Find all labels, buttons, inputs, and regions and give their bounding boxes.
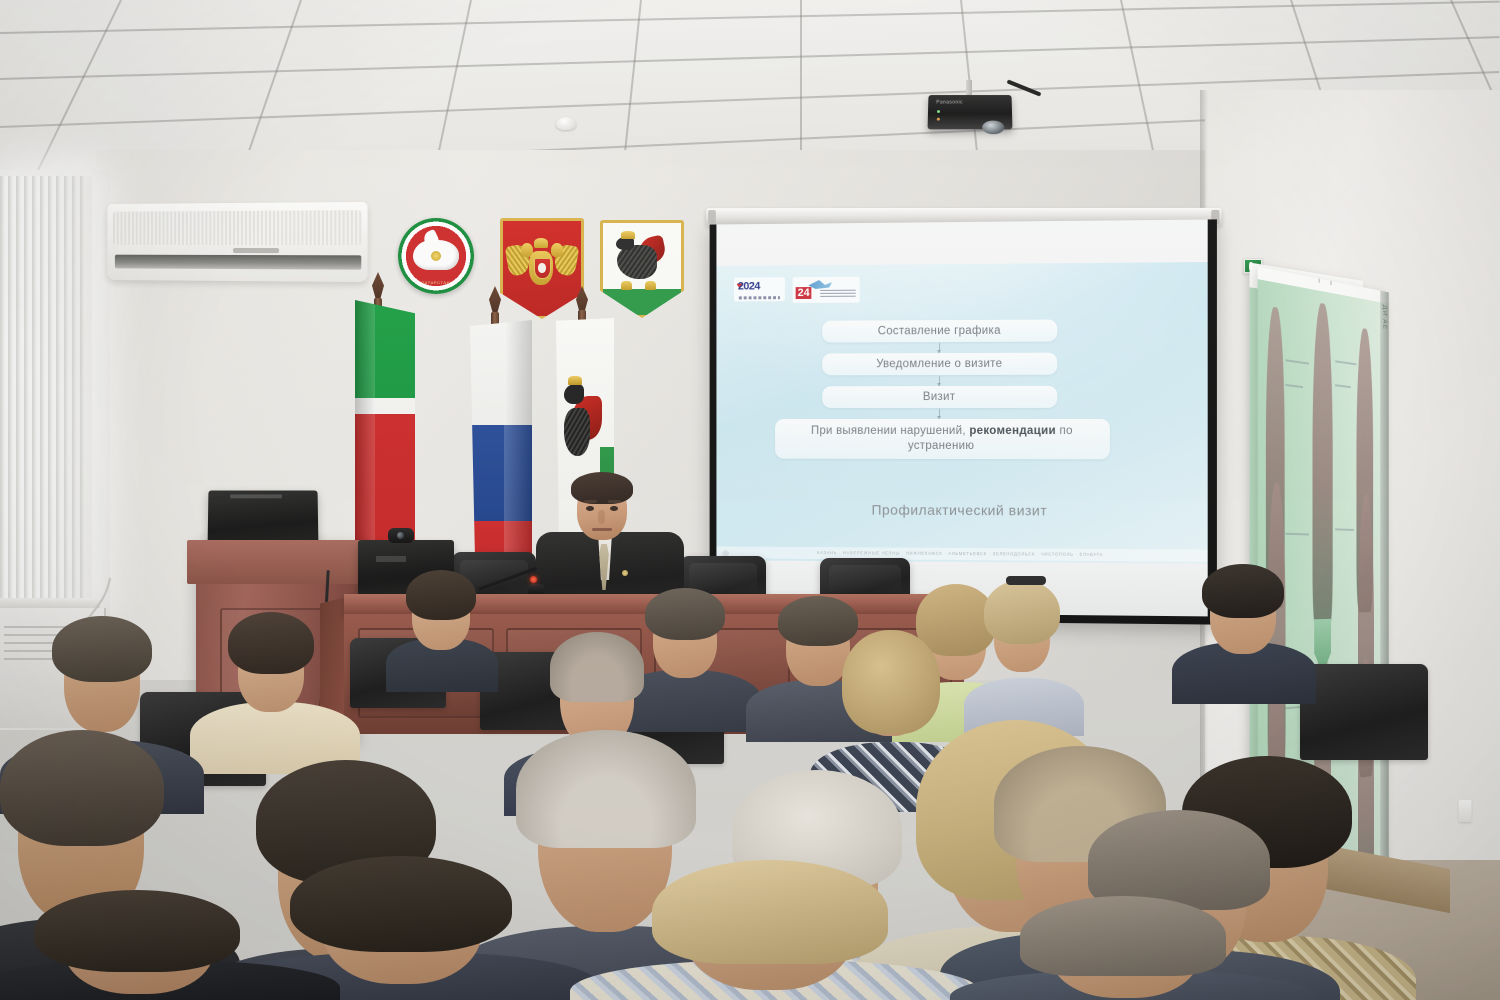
audience-member bbox=[972, 580, 1070, 730]
conference-hall-photo: ТАТАРСТАН bbox=[0, 0, 1500, 1000]
flow-step-2: Уведомление о визите bbox=[822, 353, 1057, 376]
flow-step-3: Визит bbox=[822, 386, 1057, 408]
ceiling-projector: Panasonic bbox=[928, 95, 1013, 129]
anniversary-24-logo: 24 bbox=[793, 277, 860, 303]
tatarstan-inscription: ТАТАРСТАН bbox=[398, 280, 474, 288]
flow-step-4-emphasis: рекомендации bbox=[969, 425, 1056, 437]
flow-step-1: Составление графика bbox=[822, 319, 1057, 342]
audience-member bbox=[0, 890, 300, 1000]
anniversary-24-logo-text: 24 bbox=[796, 287, 812, 299]
projector-brand-label: Panasonic bbox=[936, 100, 963, 106]
air-conditioner bbox=[107, 202, 367, 282]
audience-member bbox=[1184, 562, 1304, 702]
audience-member bbox=[200, 606, 344, 770]
projector-lens-icon bbox=[982, 121, 1004, 135]
banner-edge-text: ДИ АЕ bbox=[1381, 304, 1388, 330]
year-2024-logo-text: 2024 bbox=[738, 280, 760, 292]
flow-step-4: При выявлении нарушений, рекомендации по… bbox=[775, 419, 1110, 459]
audience-member bbox=[392, 566, 488, 688]
flow-step-4-prefix: При выявлении нарушений, bbox=[811, 425, 969, 437]
webcam-icon bbox=[388, 528, 414, 543]
sunglasses-icon bbox=[1006, 576, 1046, 585]
smoke-detector-icon bbox=[556, 117, 576, 130]
slide-title: Профилактический визит bbox=[716, 501, 1207, 519]
audience-member bbox=[980, 896, 1280, 1000]
window-left bbox=[0, 176, 92, 606]
presentation-slide: 2024 24 Составление графика Уведомление … bbox=[716, 262, 1207, 564]
audience-area bbox=[0, 560, 1500, 1000]
coat-of-arms-tatarstan-icon: ТАТАРСТАН bbox=[398, 218, 474, 294]
year-2024-logo: 2024 bbox=[734, 277, 785, 301]
audience-member bbox=[600, 860, 940, 1000]
audience-seat bbox=[1300, 664, 1428, 760]
flag-tatarstan bbox=[355, 300, 415, 565]
